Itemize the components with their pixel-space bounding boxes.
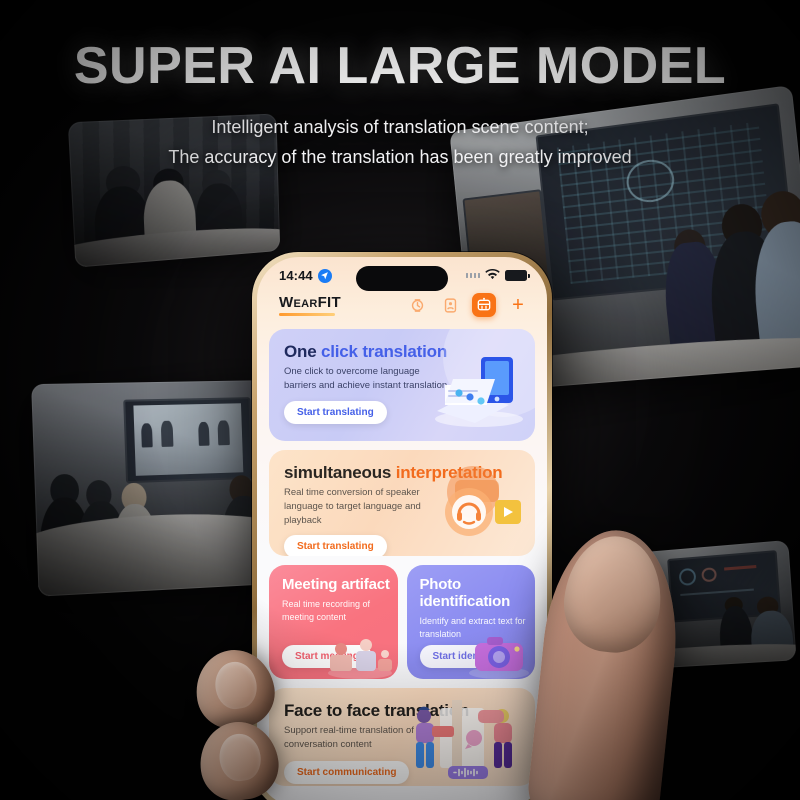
card-one-click-translation[interactable]: One click translation One click to overc… xyxy=(269,329,535,441)
brand-underline xyxy=(279,313,335,316)
location-arrow-icon xyxy=(318,269,332,283)
watch-icon[interactable] xyxy=(406,294,428,316)
page-subtitle: Intelligent analysis of translation scen… xyxy=(0,112,800,172)
wifi-icon xyxy=(485,267,500,285)
two-people-talking-illustration xyxy=(396,700,531,786)
app-header: WearFIT xyxy=(257,287,547,327)
signal-dots-icon xyxy=(466,273,481,278)
card-description: Real time recording of meeting content xyxy=(282,598,398,624)
phone-notch xyxy=(356,266,448,291)
subtitle-line-2: The accuracy of the translation has been… xyxy=(0,142,800,172)
start-communicating-button[interactable]: Start communicating xyxy=(284,761,409,784)
card-photo-identification[interactable]: Photo identification Identify and extrac… xyxy=(407,565,536,679)
brand-name: WearFIT xyxy=(279,294,341,311)
translator-icon[interactable] xyxy=(472,293,496,317)
card-face-to-face-translation[interactable]: Face to face translation Support real-ti… xyxy=(269,688,535,786)
meeting-people-illustration xyxy=(320,627,396,679)
brand-logo: WearFIT xyxy=(279,294,341,316)
headset-play-illustration xyxy=(421,462,529,548)
plus-icon[interactable]: + xyxy=(507,294,529,316)
start-translating-button[interactable]: Start translating xyxy=(284,535,387,556)
promo-stage: SUPER AI LARGE MODEL Intelligent analysi… xyxy=(0,0,800,800)
phone-mockup: 14:44 xyxy=(252,252,552,800)
page-title: SUPER AI LARGE MODEL xyxy=(0,36,800,96)
card-meeting-artifact[interactable]: Meeting artifact Real time recording of … xyxy=(269,565,398,679)
document-chat-illustration xyxy=(423,349,527,427)
card-simultaneous-interpretation[interactable]: simultaneous interpretation Real time co… xyxy=(269,450,535,556)
phone-screen: 14:44 xyxy=(257,257,547,800)
status-time: 14:44 xyxy=(279,268,313,283)
panel-conference-video-call-left xyxy=(31,380,285,597)
panel-dashboard-presentation-bottom-right xyxy=(596,540,797,671)
subtitle-line-1: Intelligent analysis of translation scen… xyxy=(211,117,588,137)
start-translating-button[interactable]: Start translating xyxy=(284,401,387,424)
feature-card-list: One click translation One click to overc… xyxy=(257,327,547,786)
camera-illustration xyxy=(457,627,533,679)
device-card-icon[interactable] xyxy=(439,294,461,316)
card-pair-row: Meeting artifact Real time recording of … xyxy=(269,565,535,679)
card-title: Meeting artifact xyxy=(282,577,398,594)
battery-icon xyxy=(505,270,527,281)
card-title: Photo identification xyxy=(420,577,536,611)
header-icon-group: + xyxy=(406,293,529,317)
